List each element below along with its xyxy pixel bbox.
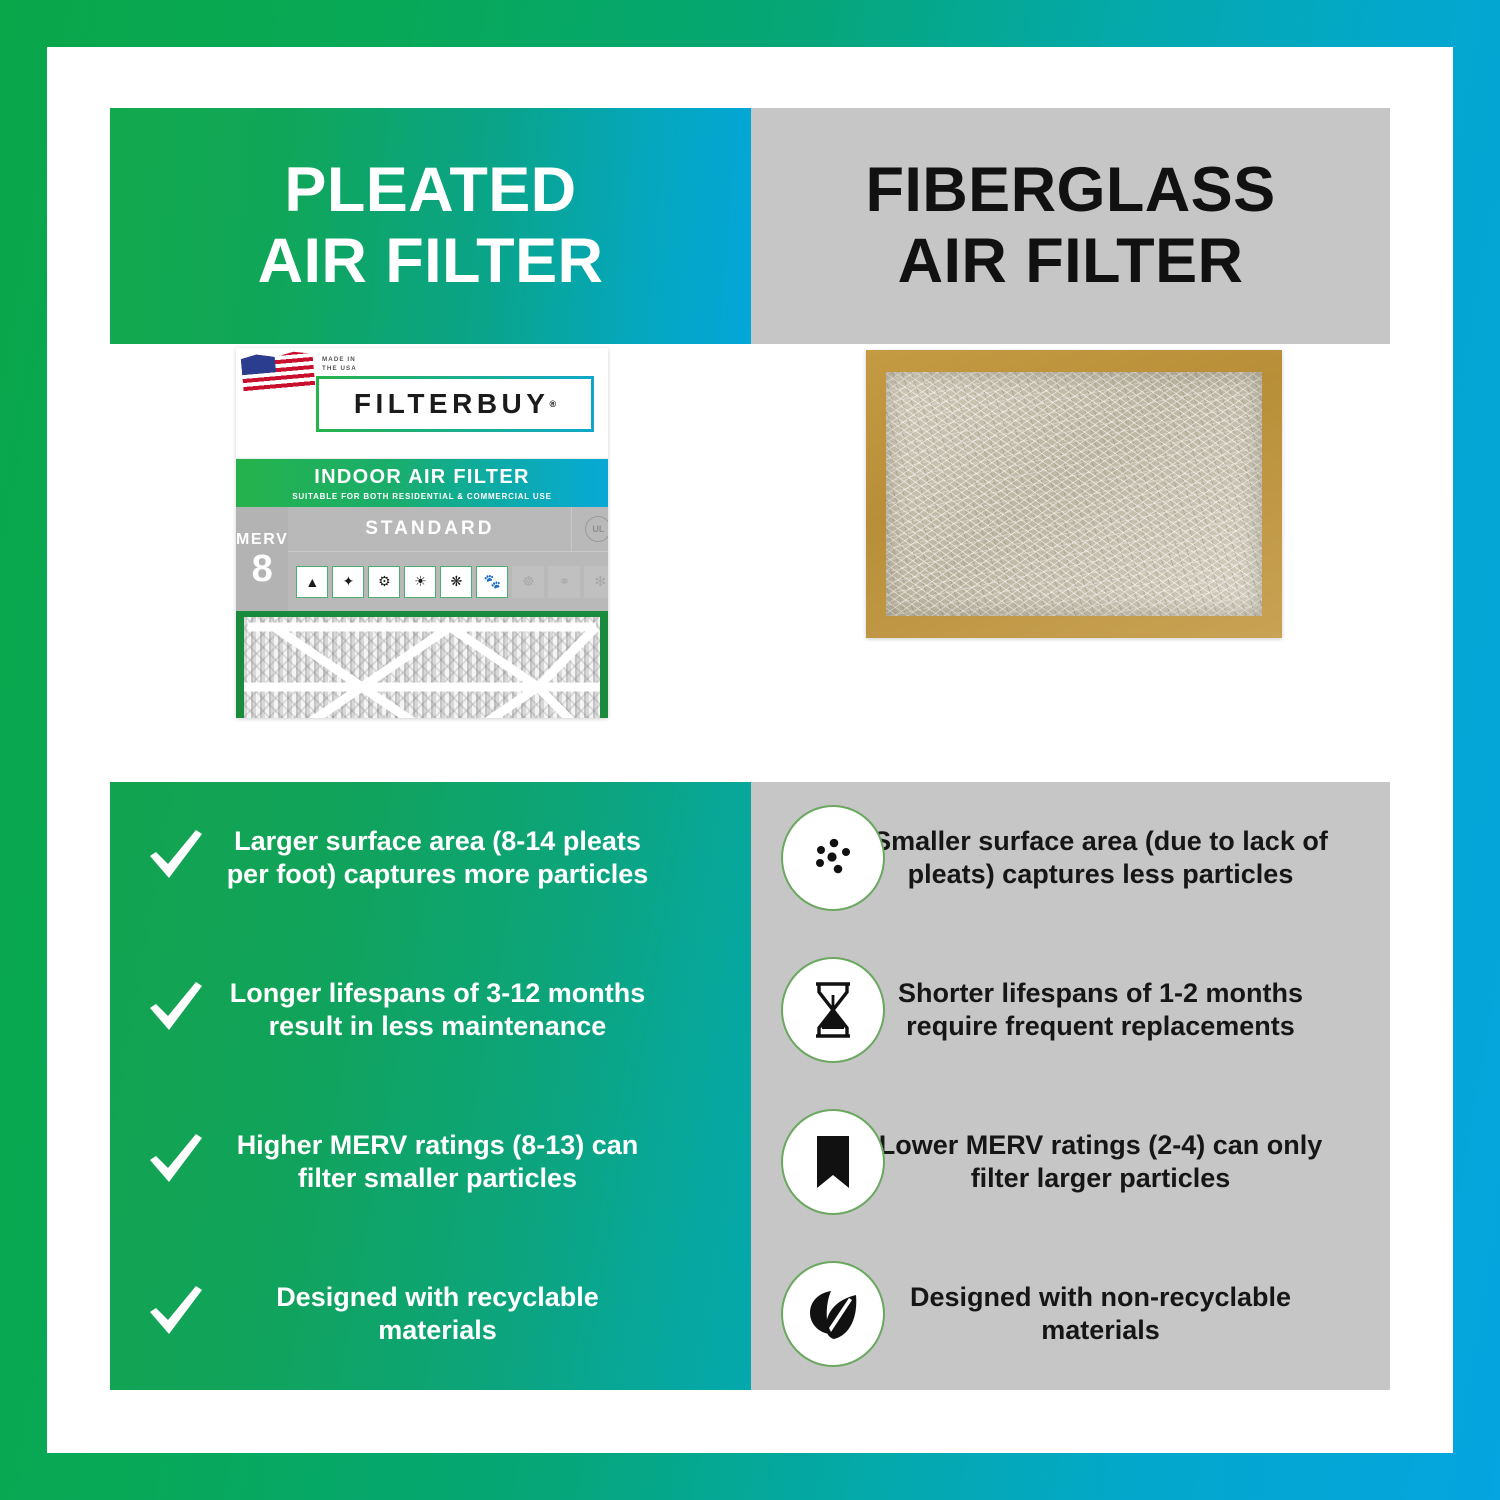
header-fiberglass-line2: AIR FILTER (898, 226, 1244, 296)
pleat-texture (244, 617, 600, 718)
particles-icon (781, 805, 885, 911)
usa-flag-icon (240, 349, 315, 395)
header-fiberglass-line1: FIBERGLASS (865, 155, 1275, 225)
header-pleated-line2: AIR FILTER (258, 226, 604, 296)
pleated-benefit-text: Longer lifespans of 3-12 months result i… (214, 977, 661, 1043)
indoor-air-filter-band: INDOOR AIR FILTER SUITABLE FOR BOTH RESI… (236, 459, 608, 507)
capability-icon-row: ▲ ✦ ⚙ ☀ ❋ 🐾 ☸ ⚭ ✻ (288, 552, 608, 611)
grade-row: STANDARD UL (288, 507, 608, 552)
merv-label: MERV (236, 531, 288, 549)
made-in-usa-label: MADE INTHE USA (322, 355, 357, 374)
leaf-icon (781, 1261, 885, 1367)
comparison-infographic: PLEATED AIR FILTER FIBERGLASS AIR FILTER… (110, 108, 1390, 1390)
pleated-filter-photo-cell: MADE INTHE USA FILTERBUY® INDOOR AIR FIL… (110, 344, 750, 782)
badge-inner (789, 813, 877, 903)
bacteria-icon: ☸ (512, 566, 544, 598)
pleated-benefit-text: Designed with recyclable materials (214, 1281, 661, 1347)
pleated-media-area: FILTERBUY (236, 611, 608, 718)
comparison-row: Designed with recyclable materials Desig… (110, 1238, 1390, 1390)
band-title: INDOOR AIR FILTER (314, 466, 529, 489)
checkmark-icon (144, 826, 208, 890)
header-fiberglass: FIBERGLASS AIR FILTER (751, 108, 1390, 344)
comparison-row: Longer lifespans of 3-12 months result i… (110, 934, 1390, 1086)
virus-carriers-icon: ⚭ (548, 566, 580, 598)
pleated-benefit-cell: Higher MERV ratings (8-13) can filter sm… (110, 1086, 751, 1238)
band-subtitle: SUITABLE FOR BOTH RESIDENTIAL & COMMERCI… (292, 492, 551, 501)
badge-inner (789, 965, 877, 1055)
filterbuy-logo: FILTERBUY® (316, 376, 594, 432)
comparison-row: Larger surface area (8-14 pleats per foo… (110, 782, 1390, 934)
registered-trademark-icon: ® (549, 399, 556, 409)
badge-inner (789, 1117, 877, 1207)
comparison-row: Higher MERV ratings (8-13) can filter sm… (110, 1086, 1390, 1238)
merv-value: 8 (252, 550, 273, 588)
dust-mites-pollen-icon: ✦ (332, 566, 364, 598)
hourglass-icon (781, 957, 885, 1063)
fiberglass-filter-photo-cell (750, 344, 1390, 782)
mold-spores-icon: ⚙ (368, 566, 400, 598)
household-dust-lint-icon: ▲ (296, 566, 328, 598)
ul-certification-mark: UL (571, 507, 608, 551)
ul-icon: UL (585, 516, 608, 542)
checkmark-icon (144, 978, 208, 1042)
fiberglass-drawback-text: Designed with non-recyclable materials (855, 1281, 1346, 1347)
bookmark-icon (781, 1109, 885, 1215)
headers-row: PLEATED AIR FILTER FIBERGLASS AIR FILTER (110, 108, 1390, 344)
fiberglass-drawback-text: Smaller surface area (due to lack of ple… (855, 825, 1346, 891)
smoke-icon: ☀ (404, 566, 436, 598)
fiberglass-filter-product-image (866, 350, 1282, 638)
fiberglass-drawback-text: Shorter lifespans of 1-2 months require … (855, 977, 1346, 1043)
odor-icon: ✻ (584, 566, 608, 598)
pet-dander-icon: 🐾 (476, 566, 508, 598)
box-spec-right: STANDARD UL ▲ ✦ ⚙ ☀ ❋ 🐾 ☸ (288, 507, 608, 611)
smog-icon: ❋ (440, 566, 472, 598)
comparison-rows: Larger surface area (8-14 pleats per foo… (110, 782, 1390, 1390)
header-pleated-line1: PLEATED (284, 155, 576, 225)
pleated-benefit-text: Higher MERV ratings (8-13) can filter sm… (214, 1129, 661, 1195)
fiberglass-mesh-texture (886, 372, 1262, 616)
fiberglass-drawback-text: Lower MERV ratings (2-4) can only filter… (855, 1129, 1346, 1195)
product-photos-row: MADE INTHE USA FILTERBUY® INDOOR AIR FIL… (110, 344, 1390, 782)
badge-inner (789, 1269, 877, 1359)
pleated-benefit-text: Larger surface area (8-14 pleats per foo… (214, 825, 661, 891)
pleated-benefit-cell: Longer lifespans of 3-12 months result i… (110, 934, 751, 1086)
pleated-filter-product-image: MADE INTHE USA FILTERBUY® INDOOR AIR FIL… (236, 348, 608, 718)
box-brand-area: MADE INTHE USA FILTERBUY® (236, 348, 608, 459)
support-grid-icon (244, 617, 600, 718)
box-spec-area: MERV 8 STANDARD UL ▲ ✦ ⚙ (236, 507, 608, 611)
filterbuy-wordmark: FILTERBUY (354, 388, 550, 420)
pleated-benefit-cell: Larger surface area (8-14 pleats per foo… (110, 782, 751, 934)
header-pleated: PLEATED AIR FILTER (110, 108, 751, 344)
merv-rating-block: MERV 8 (236, 507, 288, 611)
checkmark-icon (144, 1130, 208, 1194)
checkmark-icon (144, 1282, 208, 1346)
grade-label: STANDARD (288, 518, 571, 540)
pleated-benefit-cell: Designed with recyclable materials (110, 1238, 751, 1390)
